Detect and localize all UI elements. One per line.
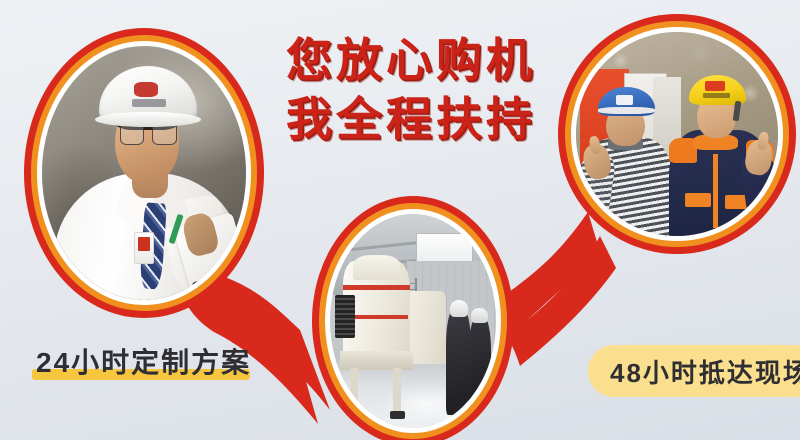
ring-white (325, 209, 501, 433)
glasses-bridge (120, 125, 175, 144)
feature-label-left: 24小时定制方案 (36, 341, 251, 381)
id-badge (134, 232, 154, 264)
helmet-band (598, 107, 655, 113)
uniform-zip-stripe (713, 154, 718, 227)
headline-line-1: 您放心购机 (276, 34, 546, 87)
machine-leg (393, 368, 401, 415)
inspector-person (446, 308, 471, 415)
helmet-brand-text (132, 99, 167, 107)
engineer-photo (42, 46, 246, 300)
headline-block: 您放心购机 我全程扶持 (276, 34, 546, 147)
promo-banner: 您放心购机 我全程扶持 24小时定制方案 48小时抵达现场 (0, 0, 800, 440)
machine-hopper (353, 255, 399, 281)
machine-foot (390, 411, 405, 420)
machine-leg (350, 368, 358, 415)
helmet-badge-icon (616, 95, 632, 105)
inspector-helmet (471, 308, 488, 323)
headline-line-2: 我全程扶持 (276, 93, 546, 146)
photo-frame-machinery (312, 196, 514, 440)
helmet-brand-text (703, 93, 729, 98)
photo-frame-engineer (24, 28, 264, 318)
machine-vent-grille (335, 295, 355, 338)
ring-white (37, 41, 251, 305)
helmet-logo-icon (705, 81, 725, 91)
ring-orange (565, 21, 789, 247)
machine-red-stripe (343, 285, 409, 290)
helmet-logo-icon (134, 82, 158, 97)
ring-orange (319, 203, 507, 439)
workers-photo (576, 32, 778, 236)
inspector-helmet (450, 300, 468, 317)
ring-orange (31, 35, 257, 311)
feature-label-right-text: 48小时抵达现场 (610, 353, 800, 390)
photo-frame-workers (558, 14, 796, 254)
uniform-pocket (685, 193, 711, 207)
inspector-person (469, 317, 491, 415)
machinery-photo (330, 214, 496, 428)
feature-label-left-text: 24小时定制方案 (36, 341, 251, 381)
ring-white (571, 27, 783, 241)
machine-foot (347, 411, 362, 420)
feature-label-right-pill: 48小时抵达现场 (588, 345, 800, 397)
